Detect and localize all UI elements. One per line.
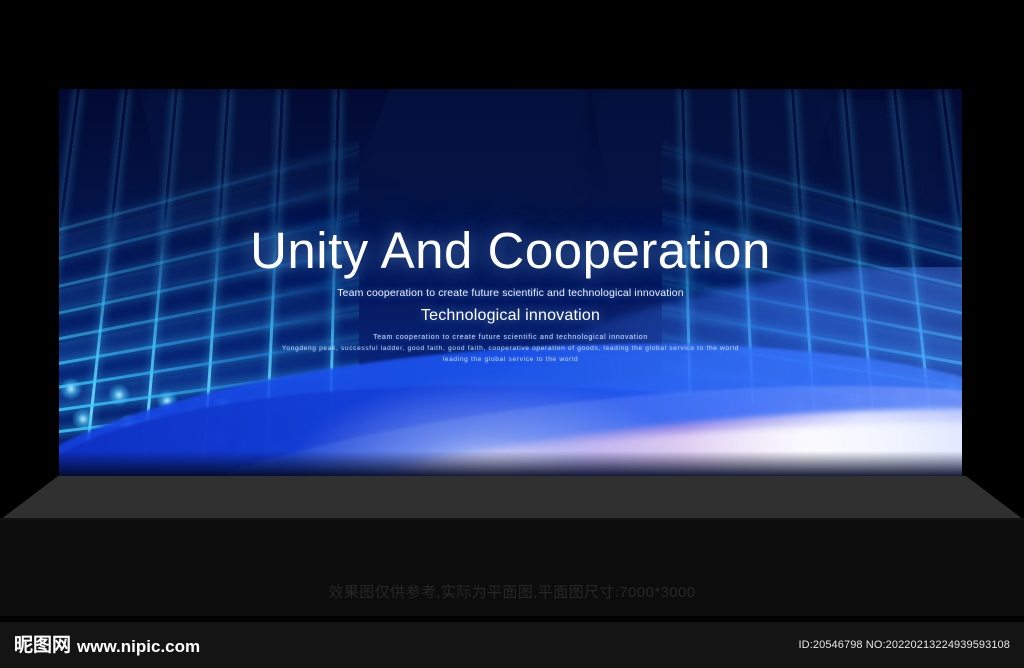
caption-note: 效果图仅供参考,实际为平面图,平面图尺寸:7000*3000 [0, 581, 1024, 602]
subtitle-1: Team cooperation to create future scient… [59, 287, 962, 299]
brand-logo-text: 昵图网 [14, 636, 71, 655]
subtitle-2: Technological innovation [59, 307, 962, 325]
brand-watermark: 昵图网 www.nipic.com [14, 636, 200, 655]
page-title: Unity And Cooperation [59, 224, 962, 278]
backdrop-silhouette-shape [359, 89, 589, 244]
asset-id-label: ID:20546798 NO:20220213224939593108 [799, 639, 1010, 651]
screen-bottom-fade [59, 451, 962, 477]
subtitle-4: Yongdeng peak, successful ladder, good f… [59, 345, 962, 352]
brand-url-text: www.nipic.com [77, 638, 200, 655]
subtitle-5: leading the global service to the world [59, 356, 962, 363]
stage-floor [0, 476, 1024, 520]
backdrop-text-block: Unity And Cooperation Team cooperation t… [59, 224, 962, 363]
subtitle-3: Team cooperation to create future scient… [59, 334, 962, 341]
backdrop-screen: Unity And Cooperation Team cooperation t… [59, 89, 962, 477]
footer-bar: 昵图网 www.nipic.com ID:20546798 NO:2022021… [0, 622, 1024, 668]
stage-scene: Unity And Cooperation Team cooperation t… [0, 0, 1024, 668]
